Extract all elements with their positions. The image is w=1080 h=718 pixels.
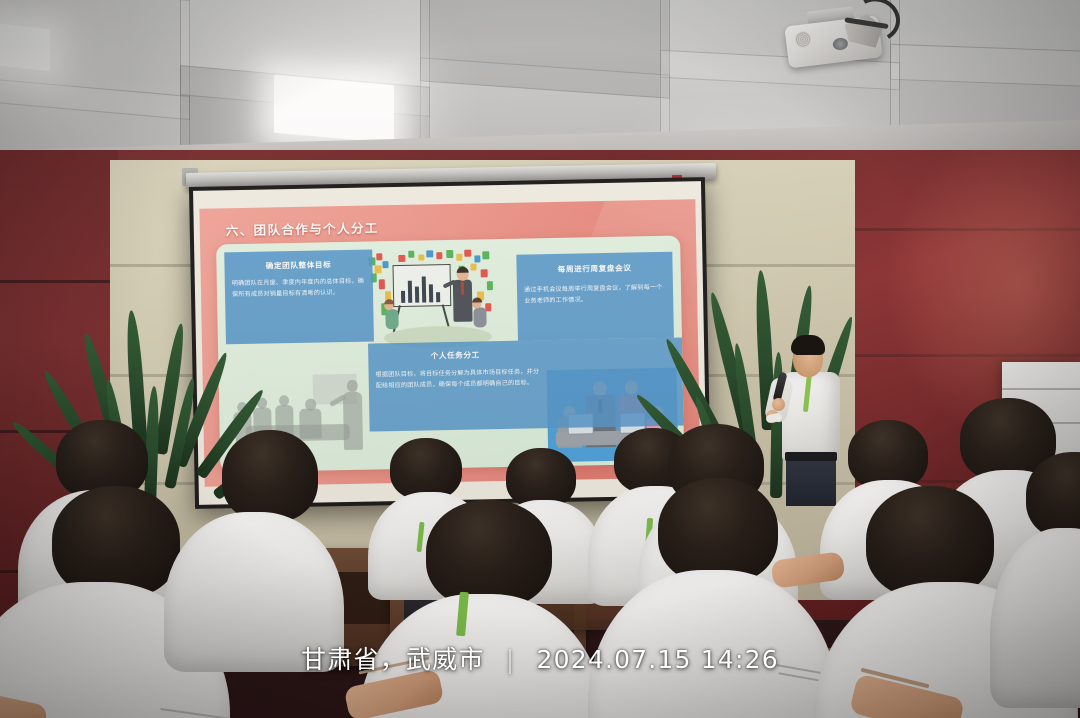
slide-box-personal-assignment: 个人任务分工 根据团队目标，将目标任务分解为具体市场目标任务，并分配给相应的团队… xyxy=(368,338,684,432)
presenter-belt xyxy=(785,452,837,461)
slide-title: 六、团队合作与个人分工 xyxy=(226,217,379,239)
watermark-datetime: 2024.07.15 14:26 xyxy=(537,645,779,674)
slide-box-weekly-review: 每周进行周复盘会议 通过手机会议每周举行周复盘会议，了解到每一个业务老师的工作情… xyxy=(516,252,674,341)
watermark-separator: | xyxy=(506,645,516,674)
slide-box-body: 通过手机会议每周举行周复盘会议，了解到每一个业务老师的工作情况。 xyxy=(524,282,666,307)
ceiling-panel-light xyxy=(0,23,50,71)
photo-watermark: 甘肃省，武威市 | 2024.07.15 14:26 xyxy=(0,640,1080,676)
photo-scene: 六、团队合作与个人分工 xyxy=(0,0,1080,718)
presenter-hand xyxy=(772,398,785,411)
slide-box-heading: 个人任务分工 xyxy=(368,348,542,362)
chart-presenter-illustration xyxy=(364,245,502,352)
slide-box-heading: 确定团队整体目标 xyxy=(224,258,372,272)
slide-box-body: 根据团队目标，将目标任务分解为具体市场目标任务，并分配给相应的团队成员，确保每个… xyxy=(375,366,544,391)
slide-box-heading: 每周进行周复盘会议 xyxy=(517,262,673,276)
presenter-trousers xyxy=(786,458,836,506)
presenter-hair xyxy=(791,335,825,355)
slide-box-body: 明确团队在月度、季度内年度内的总体目标，确保所有成员对销量目标有清晰的认识。 xyxy=(232,276,366,301)
ceiling-panel-light xyxy=(274,75,394,143)
watermark-location: 甘肃省，武威市 xyxy=(301,645,484,674)
